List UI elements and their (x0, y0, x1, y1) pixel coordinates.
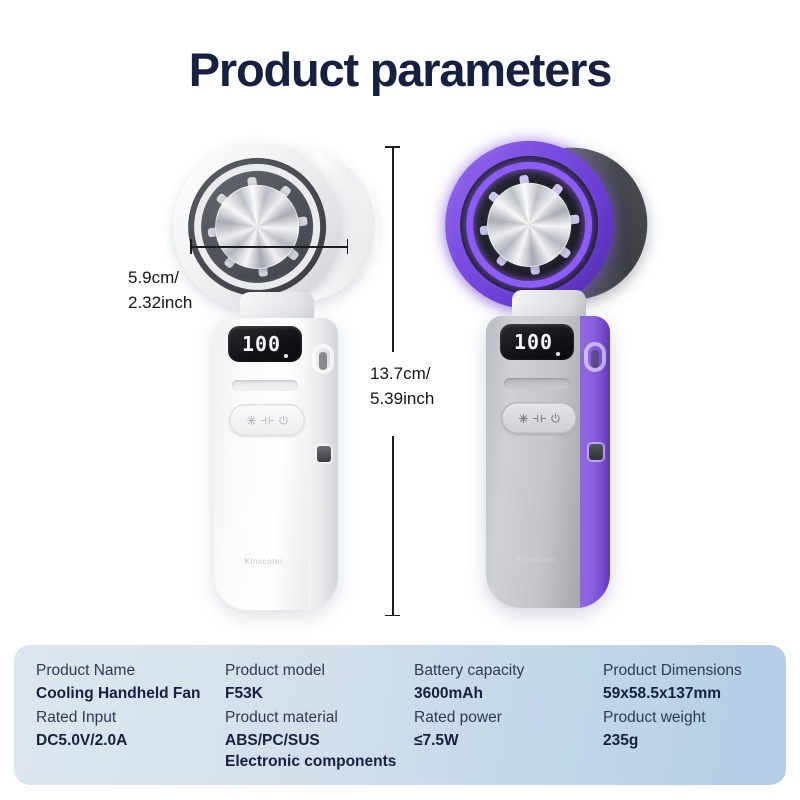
spec-value: Cooling Handheld Fan (36, 684, 211, 705)
product-stage: 100 Kinscoter (0, 0, 800, 640)
vent-slot (232, 380, 298, 391)
fan-handle-white: 100 Kinscoter (214, 318, 338, 610)
height-dimension-line2: 5.39inch (370, 387, 434, 412)
width-dimension-label: 5.9cm/ 2.32inch (128, 266, 192, 315)
brand-logo: Kinscoter (486, 555, 586, 564)
speed-arrow-icon (260, 415, 275, 426)
battery-percent-value: 100 (242, 334, 281, 354)
control-button[interactable] (501, 402, 577, 434)
spec-label: Rated Input (36, 708, 211, 729)
spec-value: 3600mAh (414, 684, 589, 705)
display-indicator-dot (556, 352, 560, 356)
spec-label: Battery capacity (414, 661, 589, 682)
width-dimension-line (190, 246, 348, 248)
spec-cell-rated-input: Rated Input DC5.0V/2.0A (36, 708, 219, 773)
speed-arrow-icon (532, 413, 547, 424)
height-dimension-line1: 13.7cm/ (370, 362, 434, 387)
width-dimension-line1: 5.9cm/ (128, 266, 192, 291)
battery-percent-value: 100 (514, 332, 553, 352)
spec-label: Product Dimensions (603, 661, 778, 682)
spec-cell-product-dimensions: Product Dimensions 59x58.5x137mm (603, 661, 786, 708)
power-icon (550, 413, 561, 424)
spec-value: DC5.0V/2.0A (36, 731, 211, 752)
fan-handle-purple: 100 Kinscoter (486, 316, 610, 608)
spec-cell-product-material: Product material ABS/PC/SUS Electronic c… (225, 708, 408, 773)
spec-value: ≤7.5W (414, 731, 589, 752)
spec-cell-product-weight: Product weight 235g (603, 708, 786, 773)
charging-port (317, 446, 331, 462)
spec-value: ABS/PC/SUS Electronic components (225, 731, 400, 773)
spec-label: Product model (225, 661, 400, 682)
spec-cell-product-model: Product model F53K (225, 661, 408, 708)
lanyard-loop (584, 342, 606, 372)
spec-label: Rated power (414, 708, 589, 729)
led-display: 100 (500, 324, 574, 360)
spec-cell-product-name: Product Name Cooling Handheld Fan (36, 661, 219, 708)
vent-slot (504, 378, 570, 389)
spec-label: Product weight (603, 708, 778, 729)
spec-value: 59x58.5x137mm (603, 684, 778, 705)
height-dimension-label: 13.7cm/ 5.39inch (370, 362, 434, 411)
spec-cell-rated-power: Rated power ≤7.5W (414, 708, 597, 773)
snowflake-icon (246, 415, 257, 426)
spec-cell-battery-capacity: Battery capacity 3600mAh (414, 661, 597, 708)
width-dimension-line2: 2.32inch (128, 291, 192, 316)
spec-label: Product Name (36, 661, 211, 682)
lanyard-loop (312, 344, 334, 374)
power-icon (278, 415, 289, 426)
control-button[interactable] (229, 404, 305, 436)
brand-logo: Kinscoter (214, 557, 314, 566)
spec-value: 235g (603, 731, 778, 752)
spec-label: Product material (225, 708, 400, 729)
display-indicator-dot (284, 354, 288, 358)
charging-port (589, 444, 603, 460)
led-display: 100 (228, 326, 302, 362)
specifications-panel: Product Name Cooling Handheld Fan Produc… (14, 645, 786, 785)
snowflake-icon (518, 413, 529, 424)
spec-value: F53K (225, 684, 400, 705)
product-fan-purple: 100 Kinscoter (440, 138, 700, 618)
